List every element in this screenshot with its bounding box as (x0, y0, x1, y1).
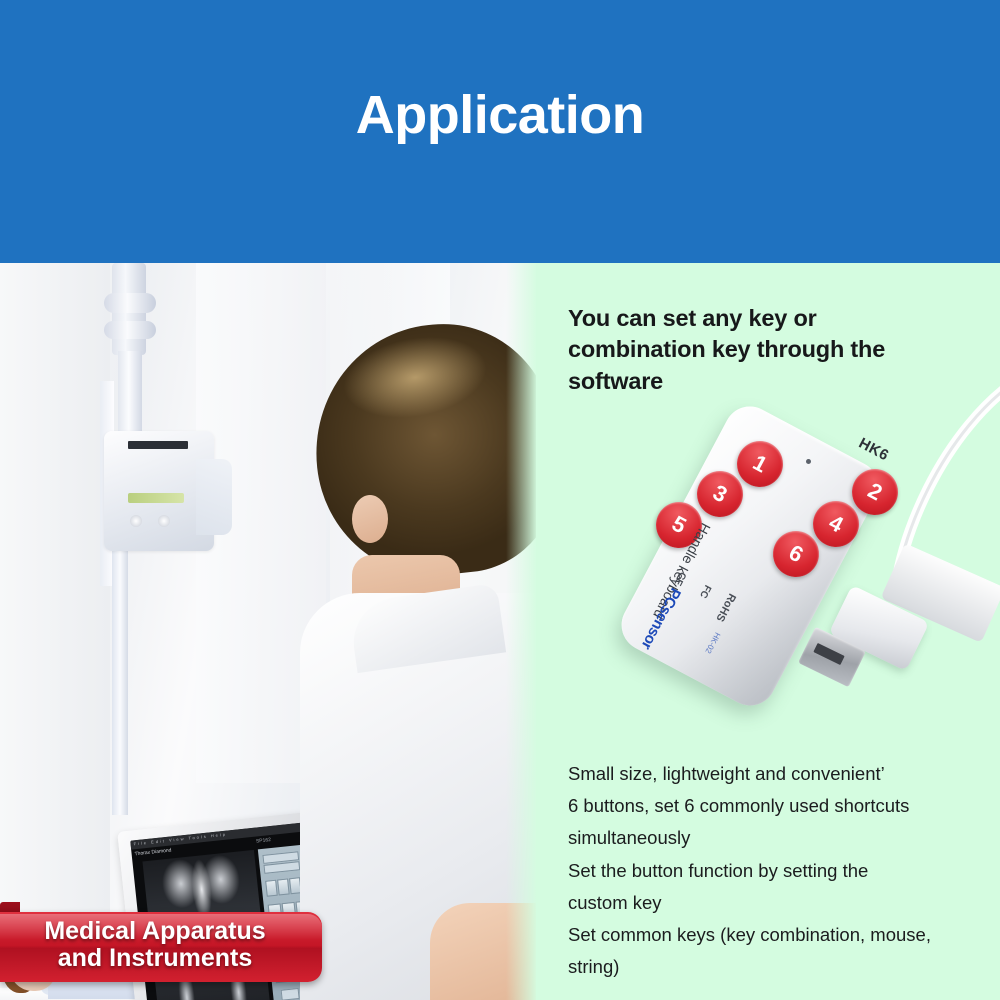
feature-line: custom key (568, 887, 988, 919)
feature-line: Set common keys (key combination, mouse, (568, 919, 988, 951)
xray-head-slot (128, 441, 188, 449)
xray-joint-lower (104, 321, 156, 339)
banner-text: Medical Apparatus and Instruments (0, 918, 310, 972)
xray-head-indicator (128, 493, 184, 503)
feature-list: Small size, lightweight and convenient’ … (568, 758, 988, 983)
monitor-study-title: Thorax Diamond (134, 847, 171, 857)
xray-handle-wing (196, 459, 232, 535)
feature-line: Small size, lightweight and convenient’ (568, 758, 988, 790)
feature-panel: You can set any key or combination key t… (536, 263, 1000, 1000)
feature-line: Set the button function by setting the (568, 855, 988, 887)
xray-knob-right (158, 515, 170, 527)
photo-edge-fade (506, 263, 536, 1000)
xray-knob-left (130, 515, 142, 527)
banner-line-2: and Instruments (0, 945, 310, 972)
feature-line: string) (568, 951, 988, 983)
wall-panel-left (0, 263, 110, 1000)
monitor-study-meta: SP162 (256, 837, 272, 845)
panel-heading: You can set any key or combination key t… (568, 303, 898, 397)
application-slide: Application (0, 0, 1000, 1000)
banner-line-1: Medical Apparatus (0, 918, 310, 945)
page-title: Application (0, 88, 1000, 142)
feature-line: simultaneously (568, 822, 988, 854)
feature-line: 6 buttons, set 6 commonly used shortcuts (568, 790, 988, 822)
xray-joint-upper (104, 293, 156, 313)
medical-photo: File Edit View Tools Help Thorax Diamond… (0, 263, 536, 1000)
header-band: Application (0, 0, 1000, 263)
doctor-ear (352, 495, 388, 543)
